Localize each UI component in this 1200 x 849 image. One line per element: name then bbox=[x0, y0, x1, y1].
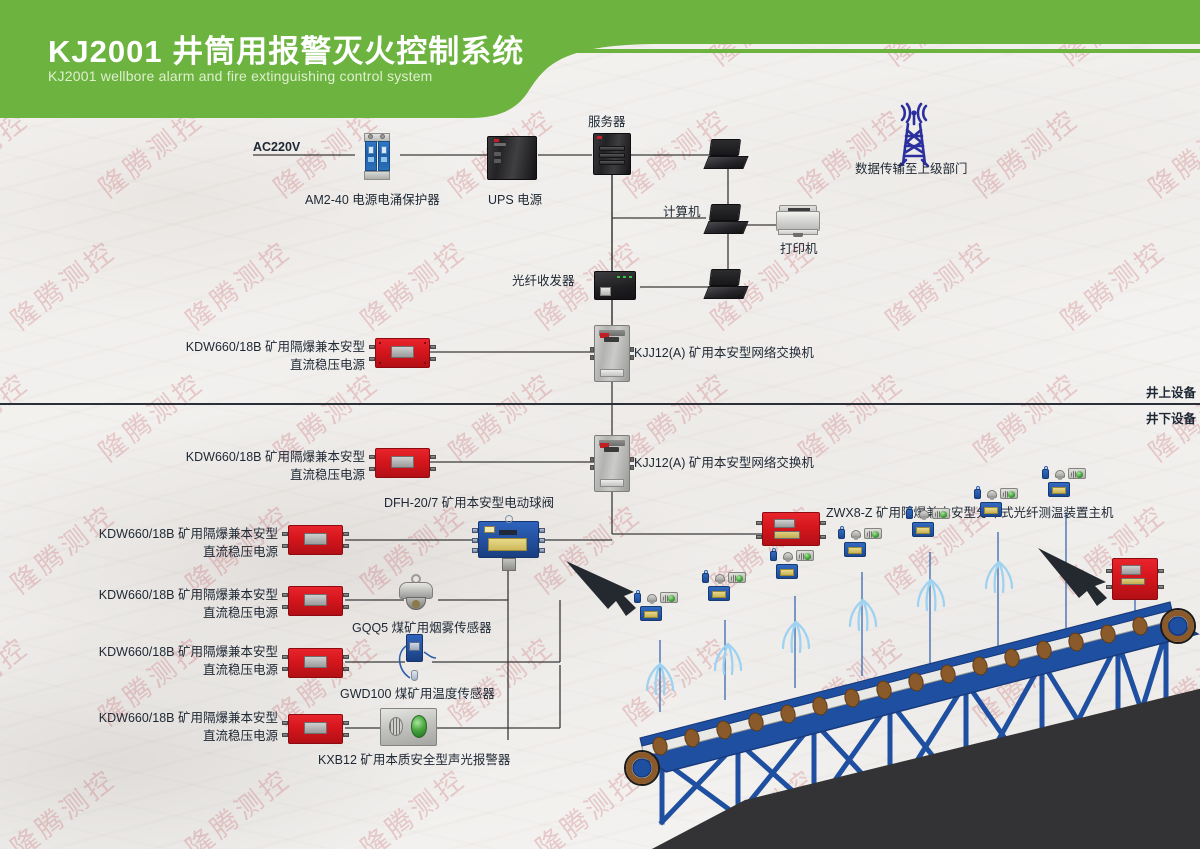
sprinkler-station-7 bbox=[1040, 466, 1090, 500]
electric-ball-valve-icon bbox=[478, 521, 539, 558]
power-supply-5-label-line1: KDW660/18B 矿用隔爆兼本安型 bbox=[38, 709, 278, 727]
power-supply-3-label-line1: KDW660/18B 矿用隔爆兼本安型 bbox=[38, 586, 278, 604]
power-supply-2 bbox=[288, 525, 343, 555]
divider-above-label: 井上设备 bbox=[1146, 385, 1196, 402]
power-supply-1-label-line2: 直流稳压电源 bbox=[125, 466, 365, 484]
valve-label: DFH-20/7 矿用本安型电动球阀 bbox=[384, 495, 554, 512]
server-tower-icon bbox=[593, 133, 631, 175]
media-converter-label: 光纤收发器 bbox=[512, 273, 575, 290]
computer-workstation-icon-3 bbox=[706, 269, 750, 301]
computer-workstation-icon-2 bbox=[706, 204, 750, 236]
surface-switch-label: KJJ12(A) 矿用本安型网络交换机 bbox=[634, 345, 814, 362]
sprinkler-station-4 bbox=[836, 526, 886, 560]
diagram-canvas: 隆腾测控隆腾测控隆腾测控隆腾测控隆腾测控隆腾测控隆腾测控隆腾测控隆腾测控隆腾测控… bbox=[0, 0, 1200, 849]
surge-protector-icon bbox=[358, 133, 398, 180]
spd-label: AM2-40 电源电涌保护器 bbox=[305, 192, 440, 209]
surface-power-supply-label-line1: KDW660/18B 矿用隔爆兼本安型 bbox=[125, 338, 365, 356]
sprinkler-station-5 bbox=[904, 506, 954, 540]
field-control-box bbox=[1112, 558, 1158, 600]
ups-icon bbox=[487, 136, 537, 180]
conveyor-belt-scene bbox=[600, 560, 1200, 849]
server-label: 服务器 bbox=[588, 114, 626, 131]
power-supply-4-label-line2: 直流稳压电源 bbox=[38, 661, 278, 679]
ac-power-label: AC220V bbox=[253, 139, 300, 156]
power-supply-5 bbox=[288, 714, 343, 744]
surface-power-supply-label-line2: 直流稳压电源 bbox=[125, 356, 365, 374]
temperature-sensor-cable bbox=[394, 636, 438, 686]
temp-sensor-label: GWD100 煤矿用温度传感器 bbox=[340, 686, 495, 703]
alarm-label: KXB12 矿用本质安全型声光报警器 bbox=[318, 752, 510, 769]
sprinkler-station-6 bbox=[972, 486, 1022, 520]
power-supply-surface bbox=[375, 338, 430, 368]
power-supply-4 bbox=[288, 648, 343, 678]
media-converter-icon bbox=[594, 271, 636, 300]
power-supply-1-label-line1: KDW660/18B 矿用隔爆兼本安型 bbox=[125, 448, 365, 466]
computer-workstation-icon-1 bbox=[706, 139, 750, 171]
power-supply-1 bbox=[375, 448, 430, 478]
power-supply-4-label-line1: KDW660/18B 矿用隔爆兼本安型 bbox=[38, 643, 278, 661]
printer-icon bbox=[776, 205, 822, 239]
printer-label: 打印机 bbox=[780, 241, 818, 258]
sprinkler-station-3 bbox=[768, 548, 818, 582]
uplink-label: 数据传输至上级部门 bbox=[855, 161, 968, 178]
computer-label: 计算机 bbox=[663, 204, 701, 221]
power-supply-5-label-line2: 直流稳压电源 bbox=[38, 727, 278, 745]
network-switch-underground bbox=[594, 435, 630, 492]
power-supply-2-label-line2: 直流稳压电源 bbox=[38, 543, 278, 561]
fiber-temperature-host bbox=[762, 512, 820, 546]
fiber-host-label: ZWX8-Z 矿用隔爆兼本安型分布式光纤测温装置主机 bbox=[826, 505, 1114, 522]
smoke-sensor-icon bbox=[396, 574, 438, 614]
divider-below-label: 井下设备 bbox=[1146, 411, 1196, 428]
sound-light-alarm-icon bbox=[380, 708, 437, 746]
power-supply-3 bbox=[288, 586, 343, 616]
underground-switch-label: KJJ12(A) 矿用本安型网络交换机 bbox=[634, 455, 814, 472]
sprinkler-station-2 bbox=[700, 570, 750, 604]
antenna-tower-icon bbox=[885, 100, 943, 170]
ups-label: UPS 电源 bbox=[488, 192, 542, 209]
power-supply-2-label-line1: KDW660/18B 矿用隔爆兼本安型 bbox=[38, 525, 278, 543]
power-supply-3-label-line2: 直流稳压电源 bbox=[38, 604, 278, 622]
network-switch-surface bbox=[594, 325, 630, 382]
sprinkler-station-1 bbox=[632, 590, 682, 624]
